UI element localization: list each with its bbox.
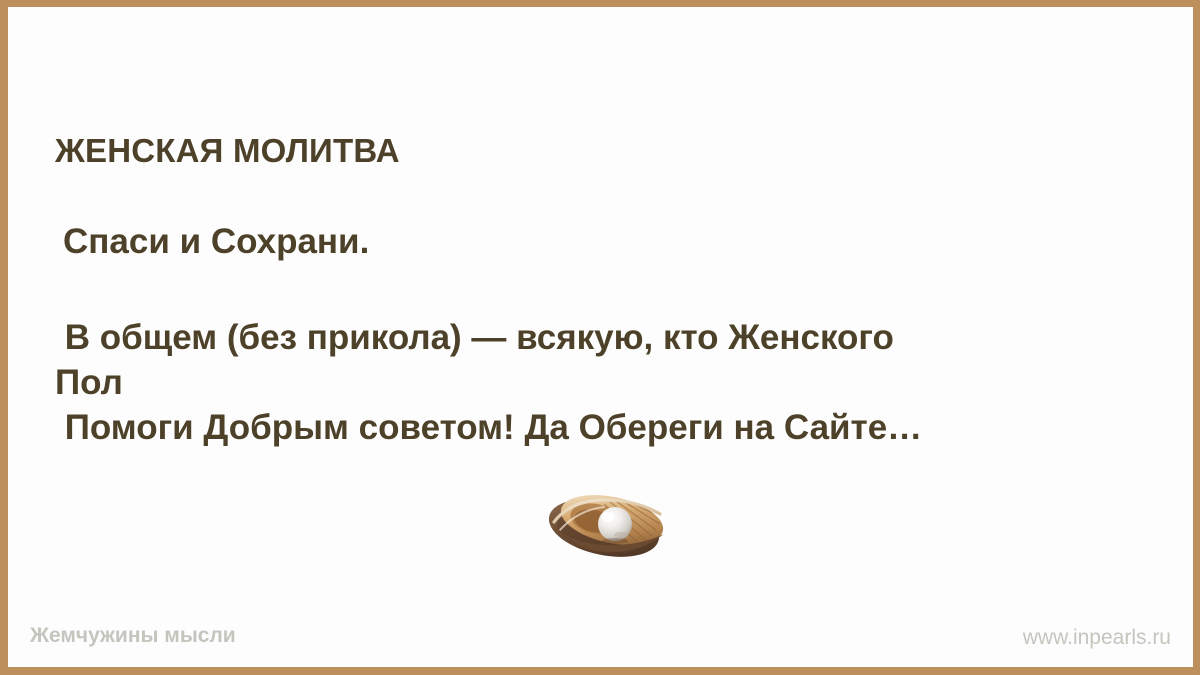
quote-subtitle: Спаси и Сохрани. [63, 222, 369, 262]
quote-line-1: В общем (без прикола) — всякую, кто Женс… [55, 315, 1175, 360]
footer-brand: Жемчужины мысли [30, 624, 236, 648]
page-title: ЖЕНСКАЯ МОЛИТВА [55, 132, 400, 170]
quote-line-3: Помоги Добрым советом! Да Обереги на Сай… [55, 405, 1175, 450]
quote-text: В общем (без прикола) — всякую, кто Женс… [55, 315, 1175, 450]
quote-line-2: Пол [55, 360, 1175, 405]
oyster-shell-with-pearl-icon [544, 490, 674, 560]
quote-card: ЖЕНСКАЯ МОЛИТВА Спаси и Сохрани. В общем… [0, 0, 1200, 675]
footer-url[interactable]: www.inpearls.ru [1023, 626, 1171, 650]
